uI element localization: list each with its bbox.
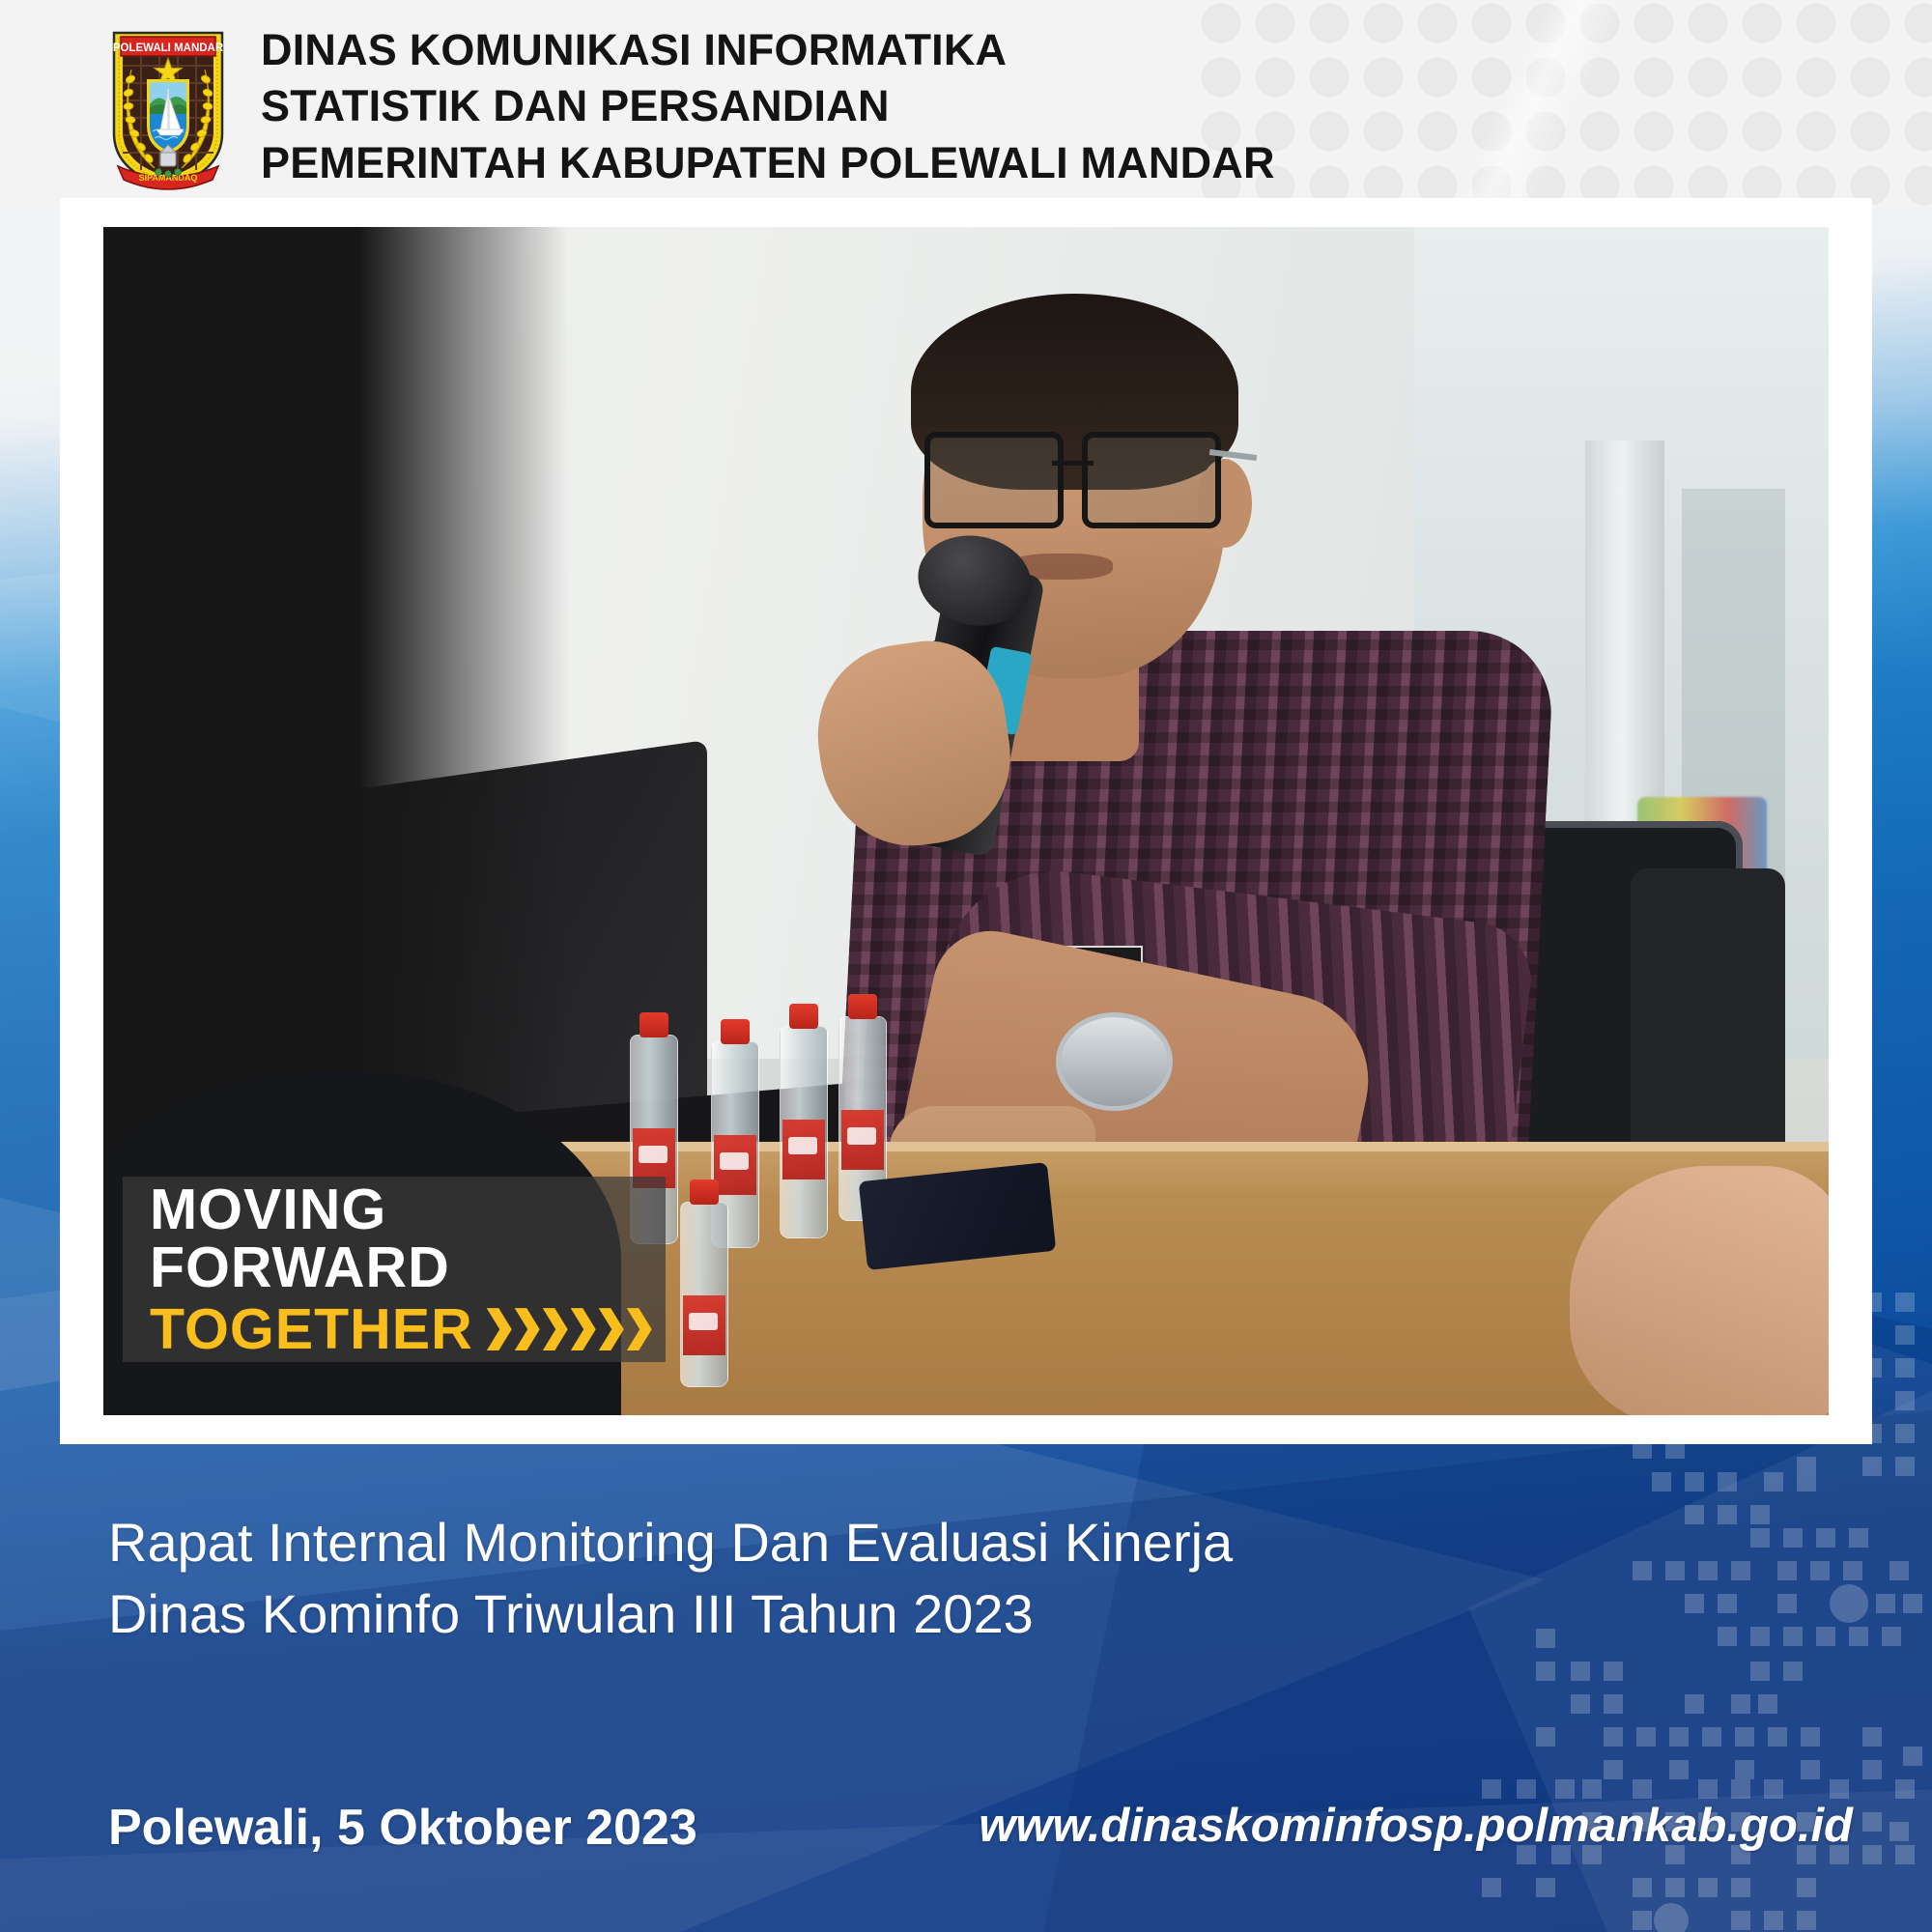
event-date: Polewali, 5 Oktober 2023 xyxy=(108,1799,697,1857)
poster-canvas: POLEWALI MANDAR xyxy=(0,0,1932,1932)
photo-water-bottle xyxy=(680,1202,728,1387)
header-title-line-1: DINAS KOMUNIKASI INFORMATIKA xyxy=(261,22,1275,79)
chevron-arrows-icon xyxy=(487,1308,652,1350)
badge-line-2: TOGETHER xyxy=(150,1300,473,1358)
event-caption: Rapat Internal Monitoring Dan Evaluasi K… xyxy=(108,1507,1461,1651)
header-title-block: DINAS KOMUNIKASI INFORMATIKA STATISTIK D… xyxy=(261,22,1275,192)
photo-water-bottle xyxy=(780,1026,828,1238)
photo-person-glasses-icon xyxy=(924,432,1221,518)
website-url[interactable]: www.dinaskominfosp.polmankab.go.id xyxy=(979,1799,1853,1853)
moving-forward-badge: MOVING FORWARD TOGETHER xyxy=(123,1177,666,1362)
header-title-line-3: PEMERINTAH KABUPATEN POLEWALI MANDAR xyxy=(261,135,1275,192)
caption-line-2: Dinas Kominfo Triwulan III Tahun 2023 xyxy=(108,1578,1461,1650)
coat-of-arms-icon: POLEWALI MANDAR xyxy=(104,25,232,191)
logo: POLEWALI MANDAR xyxy=(104,25,232,191)
badge-line-1: MOVING FORWARD xyxy=(150,1180,666,1296)
header-bar: POLEWALI MANDAR xyxy=(0,0,1932,208)
photo-person-wristwatch xyxy=(1061,1017,1168,1106)
header-title-line-2: STATISTIK DAN PERSANDIAN xyxy=(261,78,1275,135)
caption-line-1: Rapat Internal Monitoring Dan Evaluasi K… xyxy=(108,1507,1461,1578)
logo-banner-text: POLEWALI MANDAR xyxy=(113,43,224,54)
